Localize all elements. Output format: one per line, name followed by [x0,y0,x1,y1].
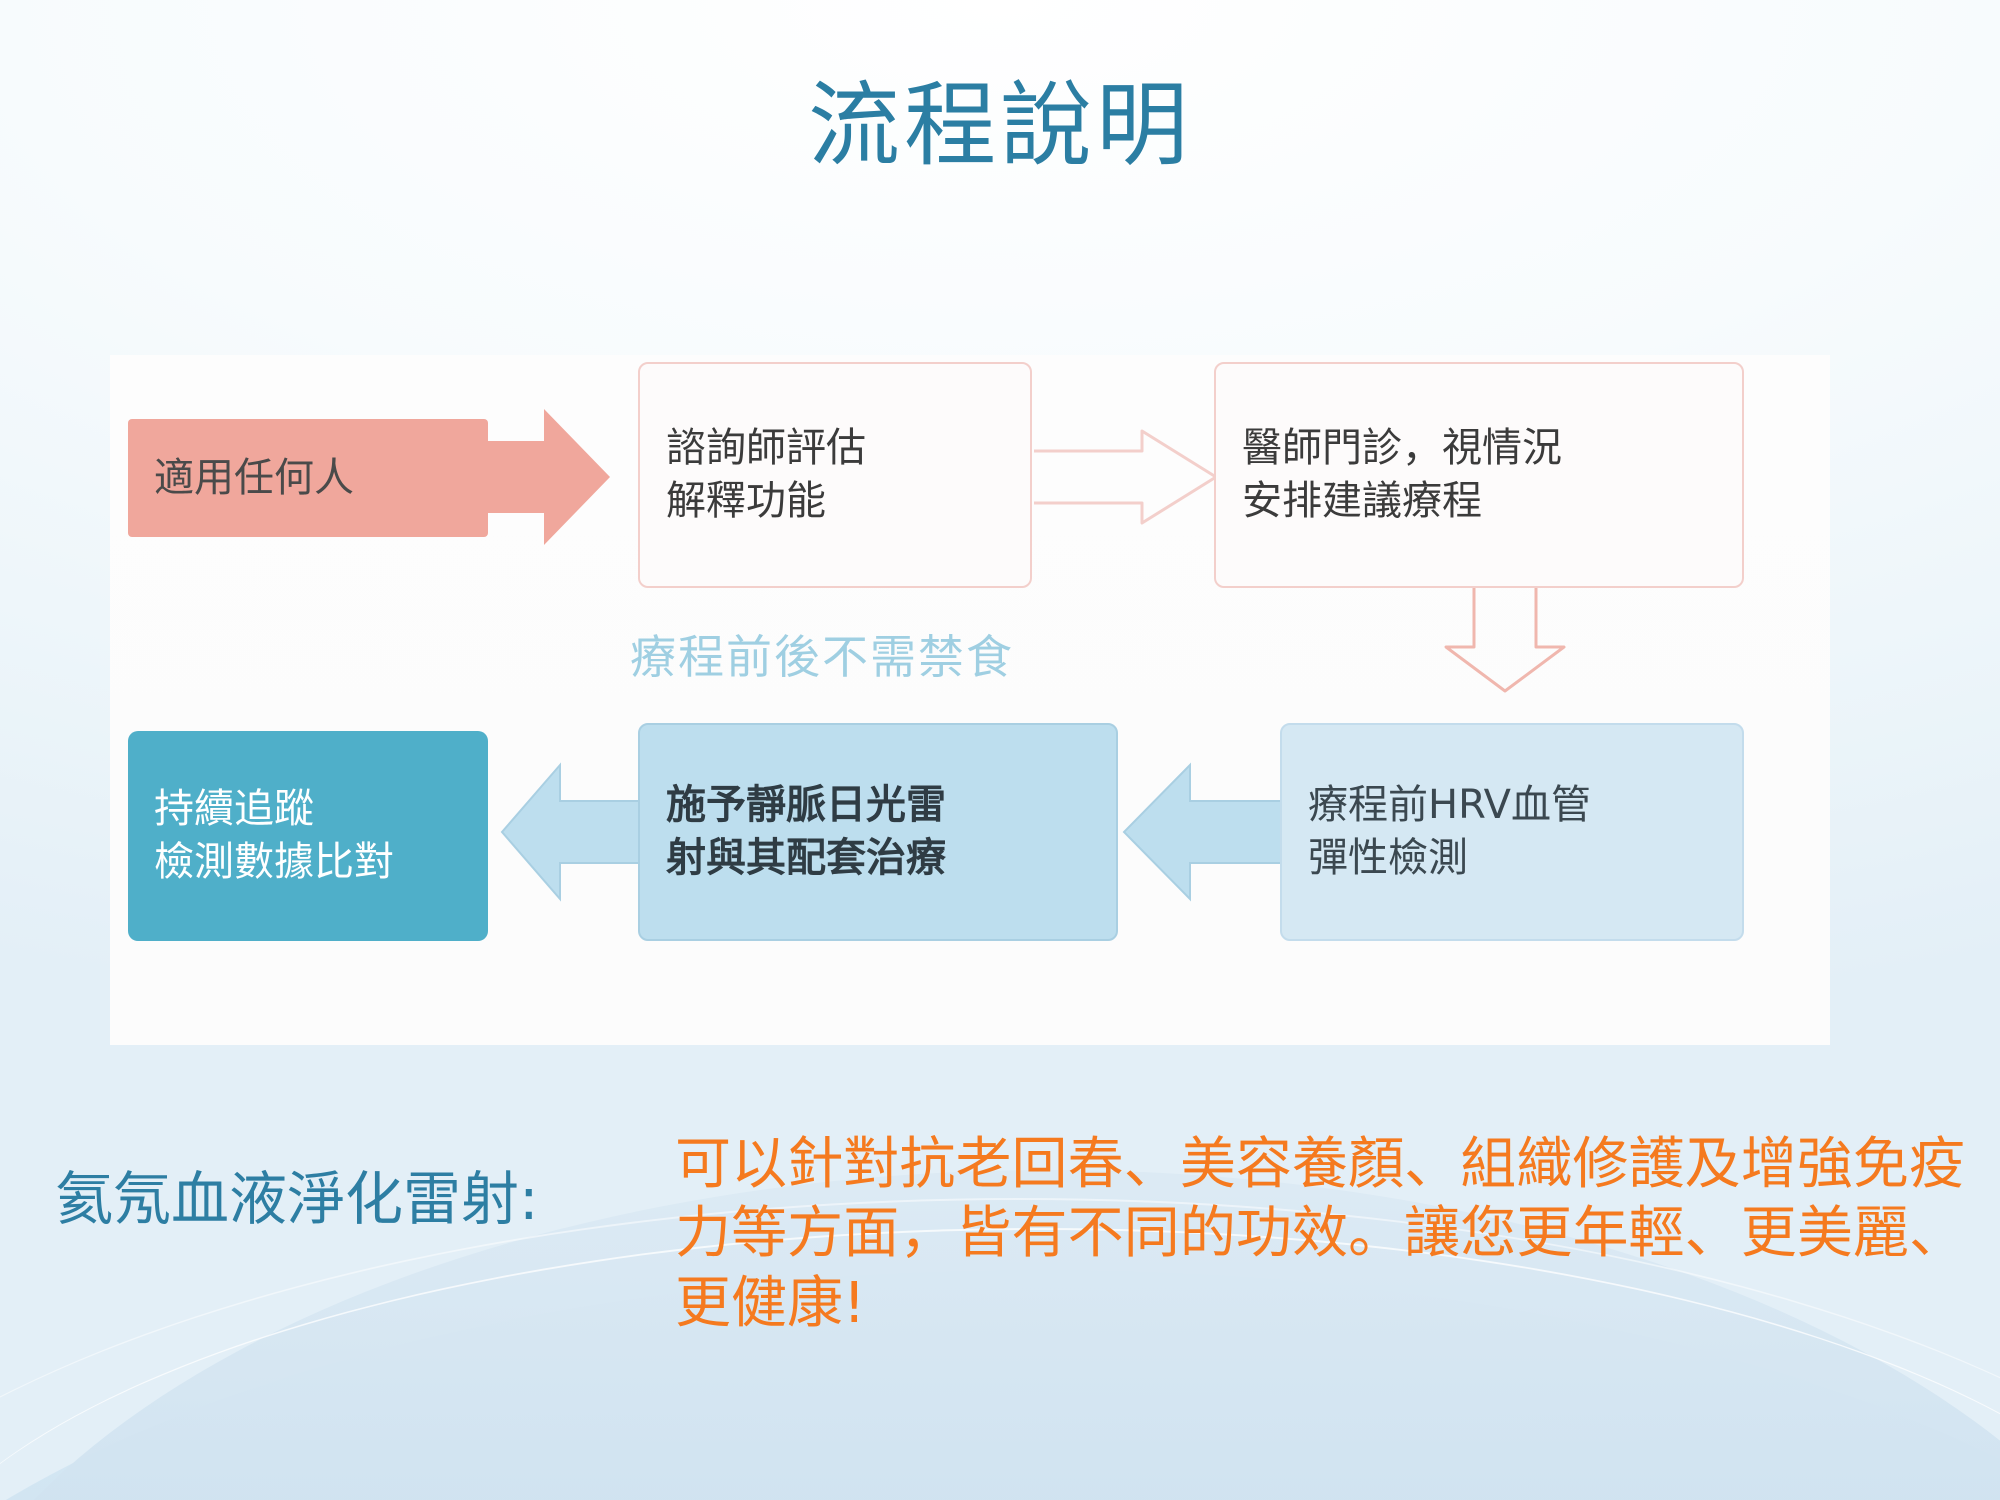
flow-node-consultant-assessment: 諮詢師評估 解釋功能 [638,362,1032,588]
arrow-n1-to-n2-icon [482,401,612,553]
process-flow-diagram: 適用任何人 諮詢師評估 解釋功能 醫師門診，視情況 安排建議療程 療程前後不需禁… [110,355,1830,1045]
flow-node-applicable-to-anyone: 適用任何人 [128,419,488,537]
flow-node-label: 療程前HRV血管 彈性檢測 [1282,725,1742,939]
arrow-n5-to-n4-icon [498,757,648,907]
arrow-n3-to-n6-icon [1440,585,1570,695]
diagram-note-no-fasting: 療程前後不需禁食 [630,623,1350,691]
slide-canvas: 流程說明 適用任何人 諮詢師評估 解釋功能 醫師門診，視情況 安排建議療程 療程… [0,0,2000,1500]
page-title: 流程說明 [0,78,2000,175]
arrow-n2-to-n3-icon [1030,427,1220,527]
arrow-n6-to-n5-icon [1120,757,1290,907]
flow-node-label: 適用任何人 [128,419,488,537]
flow-node-hrv-vascular-test: 療程前HRV血管 彈性檢測 [1280,723,1744,941]
flow-node-label: 醫師門診，視情況 安排建議療程 [1216,364,1742,586]
flow-node-label: 諮詢師評估 解釋功能 [640,364,1030,586]
flow-node-label: 施予靜脈日光雷 射與其配套治療 [640,725,1116,939]
footer-body-text: 可以針對抗老回春、美容養顏、組織修護及增強免疫力等方面，皆有不同的功效。讓您更年… [675,1130,1965,1338]
flow-node-continuous-followup: 持續追蹤 檢測數據比對 [128,731,488,941]
flow-node-label: 持續追蹤 檢測數據比對 [128,731,488,941]
footer-caption-label: 氦氖血液淨化雷射: [55,1165,695,1235]
background-wave-3 [40,1390,2000,1500]
flow-node-laser-treatment: 施予靜脈日光雷 射與其配套治療 [638,723,1118,941]
flow-node-doctor-consultation: 醫師門診，視情況 安排建議療程 [1214,362,1744,588]
